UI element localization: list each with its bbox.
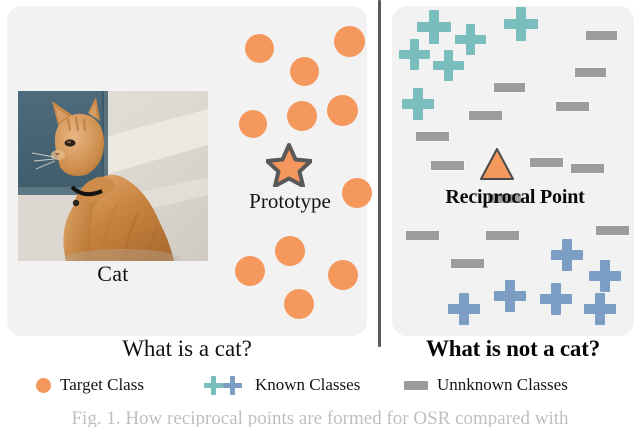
- known-class-cross: [494, 280, 526, 312]
- known-class-cross: [504, 7, 538, 41]
- legend-item-known-classes: Known Classes: [204, 372, 360, 398]
- cat-photo: [18, 91, 208, 261]
- target-class-circle: [290, 57, 319, 86]
- unknown-class-dash: [415, 131, 450, 142]
- circle-icon: [36, 378, 51, 393]
- known-class-cross: [540, 283, 572, 315]
- known-class-cross: [399, 39, 430, 70]
- unknown-class-dash: [570, 163, 605, 174]
- legend-item-unknown-classes: Unnknown Classes: [404, 372, 568, 398]
- figure-caption-cutoff: Fig. 1. How reciprocal points are formed…: [0, 408, 640, 427]
- unknown-class-dash: [529, 157, 564, 168]
- dash-icon: [404, 381, 428, 390]
- panel-divider: [378, 0, 381, 347]
- target-class-circle: [287, 101, 317, 131]
- question-left: What is a cat?: [7, 336, 367, 362]
- legend-label: Unnknown Classes: [437, 375, 568, 395]
- legend-label: Target Class: [60, 375, 144, 395]
- unknown-class-dash: [493, 82, 526, 93]
- target-class-circle: [235, 256, 265, 286]
- panel-non-target-class: [392, 6, 634, 336]
- target-class-circle: [275, 236, 305, 266]
- target-class-circle: [284, 289, 314, 319]
- unknown-class-dash: [595, 225, 630, 236]
- known-class-cross: [551, 239, 583, 271]
- known-class-cross: [433, 50, 464, 81]
- known-class-cross: [584, 293, 616, 325]
- prototype-star-icon: [266, 143, 312, 187]
- unknown-class-dash: [485, 230, 520, 241]
- target-class-circle: [245, 34, 274, 63]
- cross-pair-icon: [204, 375, 246, 395]
- legend-item-target-class: Target Class: [36, 372, 144, 398]
- unknown-class-dash: [450, 258, 485, 269]
- target-class-circle: [334, 26, 365, 57]
- target-class-circle: [239, 110, 267, 138]
- unknown-class-dash: [585, 30, 618, 41]
- unknown-class-dash: [405, 230, 440, 241]
- prototype-label: Prototype: [225, 189, 355, 214]
- legend-label: Known Classes: [255, 375, 360, 395]
- legend: Target Class Known Classes Unnknown Clas…: [0, 372, 640, 400]
- unknown-class-dash: [555, 101, 590, 112]
- unknown-class-dash: [468, 110, 503, 121]
- question-right: What is not a cat?: [392, 336, 634, 362]
- panel-target-class: Cat Prototype: [7, 6, 367, 336]
- unknown-class-dash: [574, 67, 607, 78]
- cat-image-label: Cat: [18, 261, 208, 287]
- reciprocal-point-triangle-icon: [479, 147, 515, 181]
- target-class-circle: [328, 260, 358, 290]
- target-class-circle: [327, 95, 358, 126]
- known-class-cross: [402, 88, 434, 120]
- known-class-cross: [589, 260, 621, 292]
- reciprocal-point-label: Reciprocal Point: [400, 186, 630, 209]
- unknown-class-dash: [430, 160, 465, 171]
- known-class-cross: [448, 293, 480, 325]
- figure-root: Cat Prototype: [0, 0, 640, 427]
